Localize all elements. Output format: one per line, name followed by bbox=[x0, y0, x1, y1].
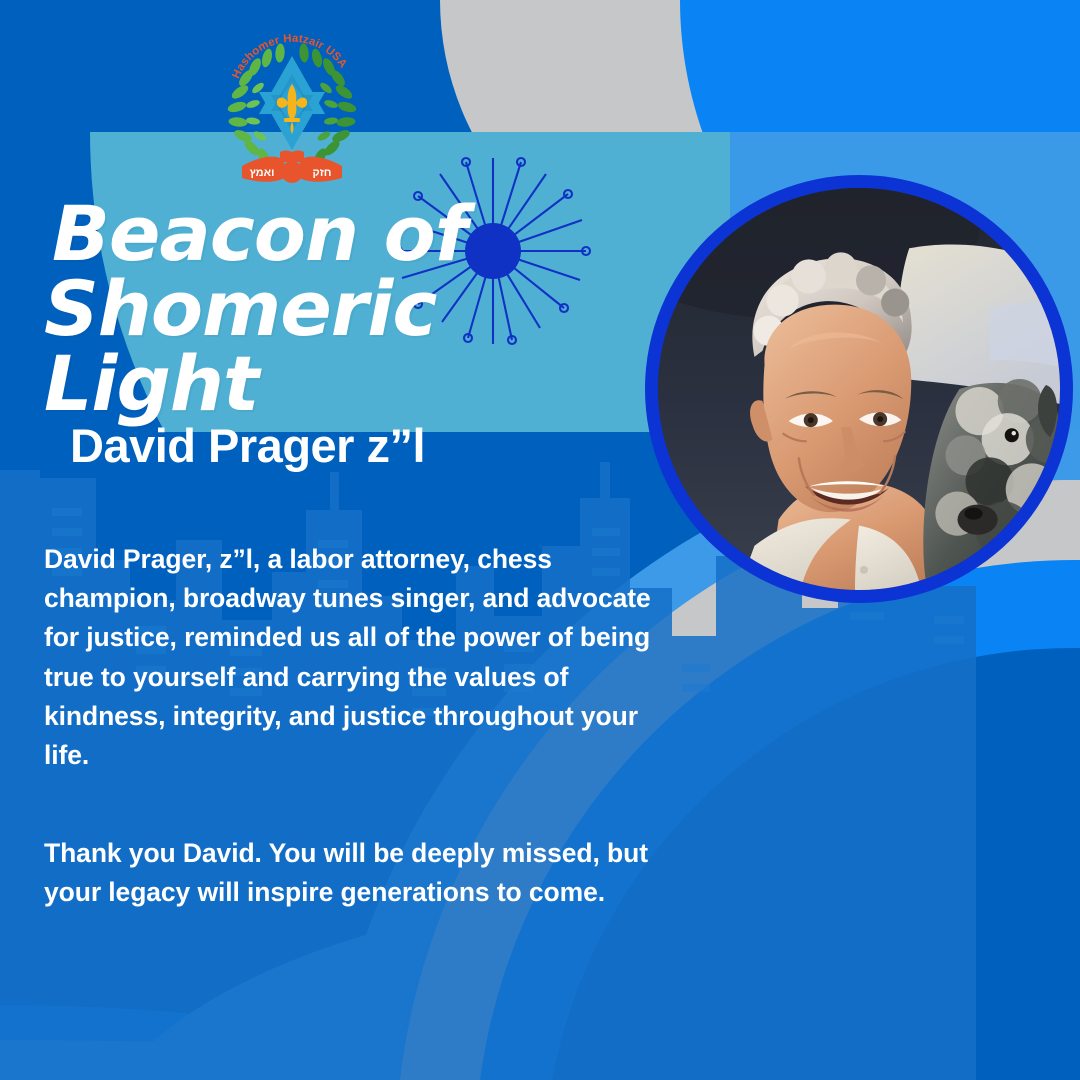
subject-name: David Prager z”l bbox=[70, 418, 425, 473]
body-paragraph-1: David Prager, z”l, a labor attorney, che… bbox=[44, 540, 670, 775]
body-paragraph-2: Thank you David. You will be deeply miss… bbox=[44, 834, 670, 912]
text-content: Beacon of Shomeric Light David Prager z”… bbox=[0, 0, 1080, 1080]
page-title: Beacon of Shomeric Light bbox=[52, 196, 652, 422]
poster-canvas: Hashomer Hatzair USA ואמץ חזק bbox=[0, 0, 1080, 1080]
title-line-2: Shomeric Light bbox=[44, 271, 652, 421]
